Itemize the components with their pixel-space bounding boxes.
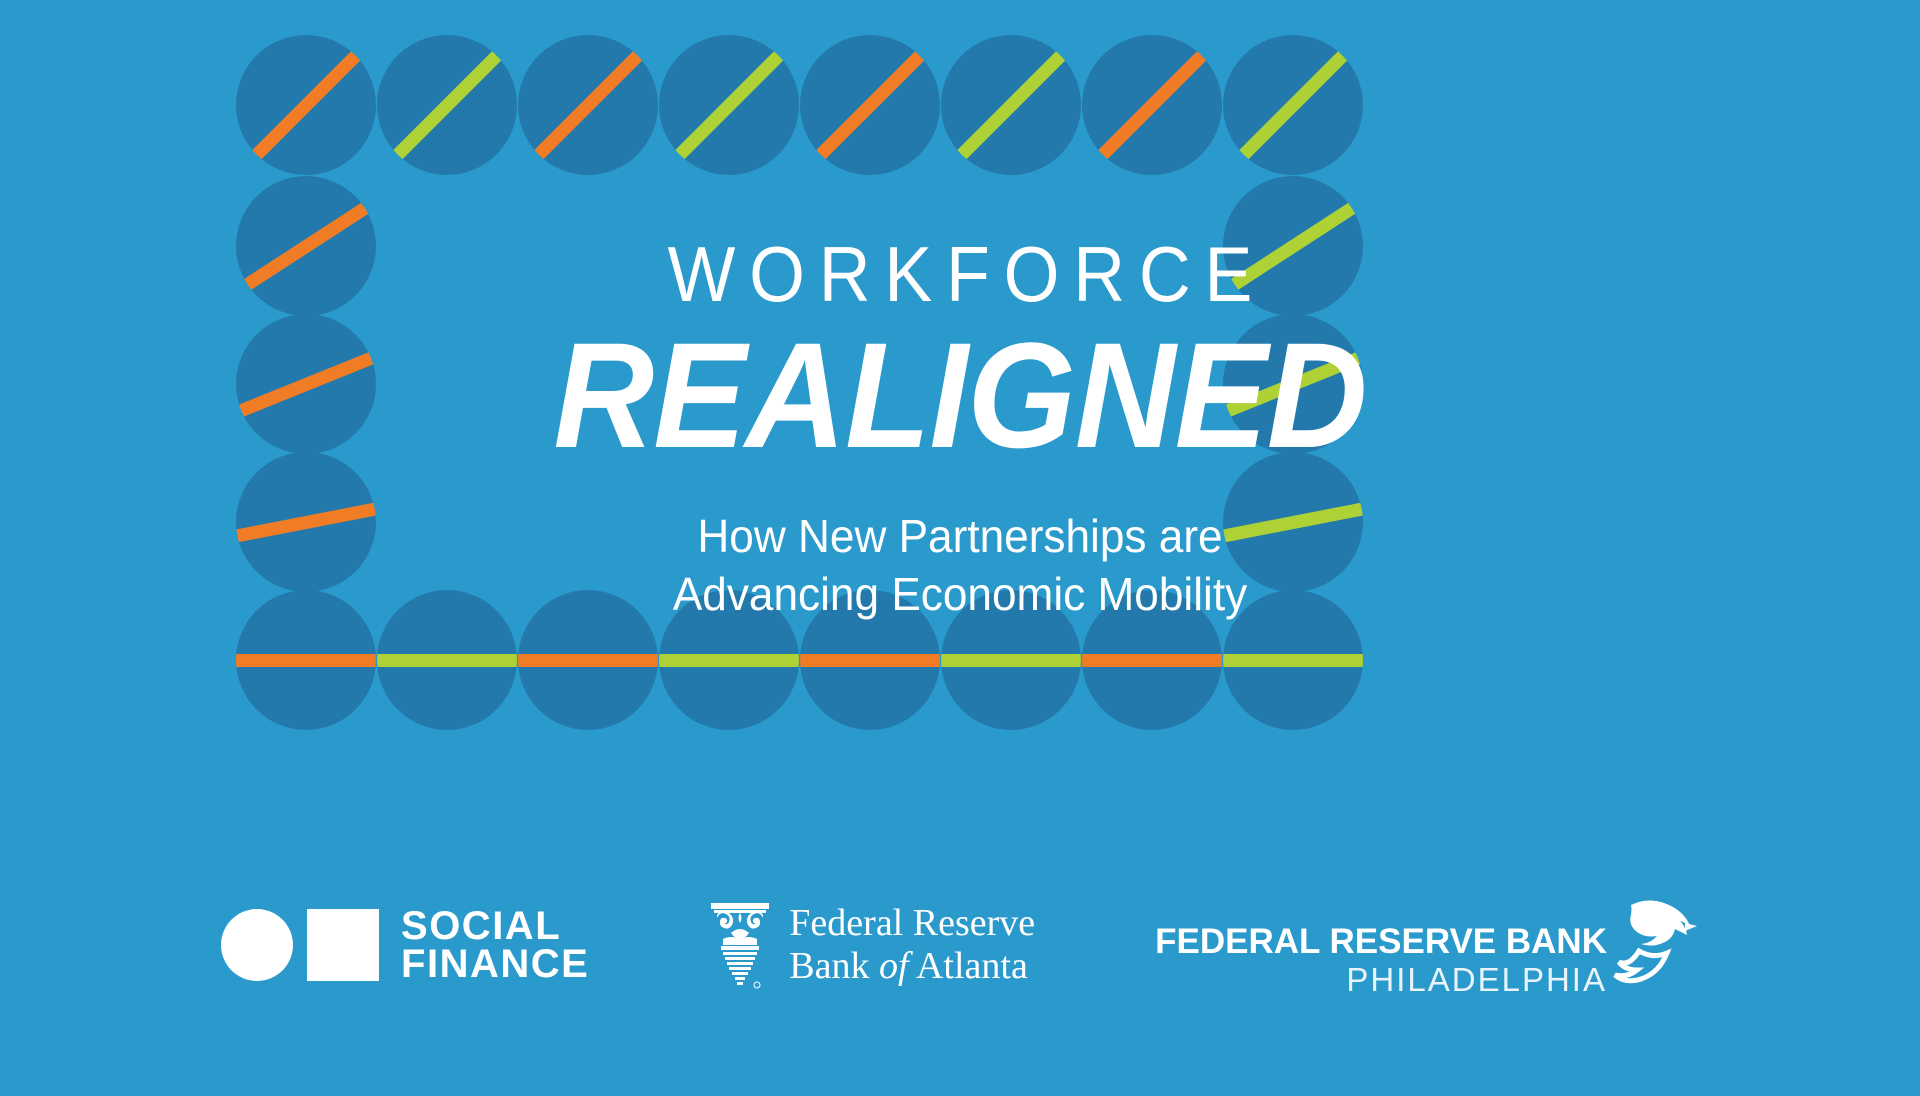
decor-circle-top-row-3 <box>518 35 658 175</box>
frb-philadelphia-line-2: PHILADELPHIA <box>1155 963 1607 996</box>
eagle-head-icon <box>1613 895 1699 996</box>
decor-stripe-orange <box>800 654 940 667</box>
frb-atlanta-line-1: Federal Reserve <box>789 902 1035 945</box>
decor-stripe-orange <box>518 35 658 175</box>
social-finance-word-1: SOCIAL <box>401 907 589 945</box>
decor-stripe-orange <box>800 35 940 175</box>
title-block: WORKFORCE REALIGNED How New Partnerships… <box>420 235 1500 623</box>
frb-atlanta-line-2: Bank of Atlanta <box>789 945 1035 988</box>
frb-atlanta-line-2-before: Bank <box>789 945 879 987</box>
decor-circle-top-row-2 <box>377 35 517 175</box>
frb-atlanta-logo: Federal Reserve Bank of Atlanta <box>709 895 1035 996</box>
poster-canvas: WORKFORCE REALIGNED How New Partnerships… <box>0 0 1920 1096</box>
decor-circle-top-row-5 <box>800 35 940 175</box>
decor-stripe-orange <box>236 494 376 551</box>
decor-stripe-green <box>1223 35 1363 175</box>
filled-square-mark-icon <box>307 909 379 981</box>
decor-stripe-orange <box>236 178 376 314</box>
filled-circle-mark-icon <box>221 909 293 981</box>
decor-stripe-orange <box>236 35 376 175</box>
frb-philadelphia-wordmark: FEDERAL RESERVE BANK PHILADELPHIA <box>1155 924 1607 996</box>
decor-stripe-orange <box>1082 35 1222 175</box>
decor-circle-left-column-3 <box>236 452 376 592</box>
decor-circle-left-column-1 <box>236 176 376 316</box>
decor-stripe-green <box>659 35 799 175</box>
page-title-primary: WORKFORCE <box>463 235 1457 313</box>
decor-stripe-green <box>377 654 517 667</box>
decor-stripe-orange <box>1082 654 1222 667</box>
social-finance-logo: SOCIAL FINANCE <box>221 907 589 984</box>
decor-stripe-orange <box>236 654 376 667</box>
decor-stripe-green <box>941 35 1081 175</box>
decor-circle-top-row-6 <box>941 35 1081 175</box>
social-finance-word-2: FINANCE <box>401 945 589 983</box>
decor-circle-left-column-2 <box>236 314 376 454</box>
decor-circle-bottom-row-1 <box>236 590 376 730</box>
frb-atlanta-line-2-after: Atlanta <box>909 945 1028 987</box>
ionic-column-capital-icon <box>709 895 771 996</box>
frb-atlanta-wordmark: Federal Reserve Bank of Atlanta <box>789 902 1035 987</box>
partner-logo-row: SOCIAL FINANCE <box>0 880 1920 1010</box>
social-finance-wordmark: SOCIAL FINANCE <box>401 907 589 984</box>
decor-stripe-green <box>941 654 1081 667</box>
decor-circle-top-row-8 <box>1223 35 1363 175</box>
decor-stripe-orange <box>518 654 658 667</box>
page-subtitle: How New Partnerships are Advancing Econo… <box>442 508 1479 623</box>
frb-philadelphia-logo: FEDERAL RESERVE BANK PHILADELPHIA <box>1155 895 1699 996</box>
frb-philadelphia-line-1: FEDERAL RESERVE BANK <box>1155 924 1607 959</box>
page-subtitle-line-1: How New Partnerships are <box>442 508 1479 566</box>
decor-circle-top-row-4 <box>659 35 799 175</box>
decor-stripe-orange <box>236 335 376 433</box>
decor-stripe-green <box>377 35 517 175</box>
page-subtitle-line-2: Advancing Economic Mobility <box>442 566 1479 624</box>
frb-atlanta-line-2-italic: of <box>879 945 909 987</box>
decor-circle-top-row-7 <box>1082 35 1222 175</box>
decor-circle-top-row-1 <box>236 35 376 175</box>
decor-stripe-green <box>1223 654 1363 667</box>
page-title-secondary: REALIGNED <box>458 319 1462 472</box>
decor-stripe-green <box>659 654 799 667</box>
